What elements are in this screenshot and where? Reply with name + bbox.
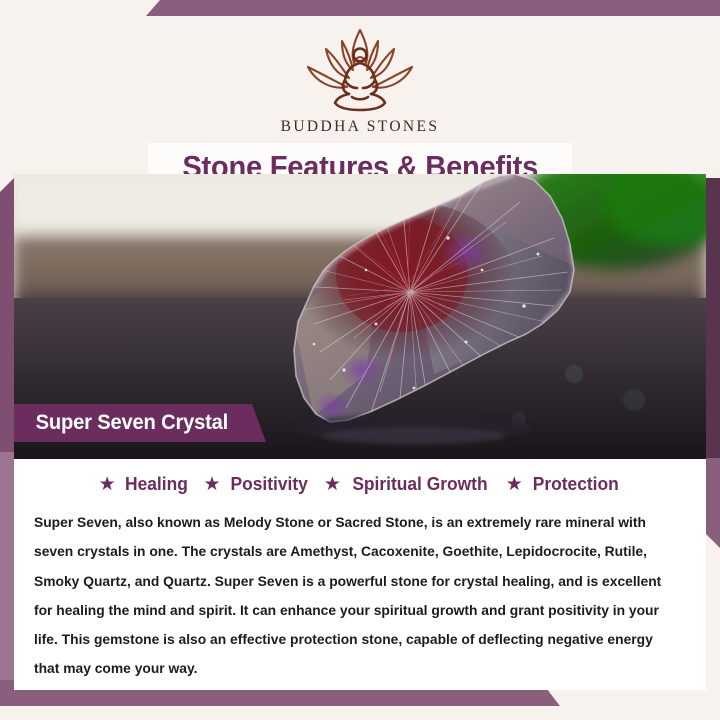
benefit-item-positivity: ★ Positivity xyxy=(204,473,310,495)
brand-logo: BUDDHA STONES xyxy=(0,24,720,136)
benefit-item-spiritual-growth: ★ Spiritual Growth xyxy=(324,473,492,495)
benefit-label: Protection xyxy=(533,473,619,495)
hero-caption-badge: Super Seven Crystal xyxy=(14,404,270,442)
description-paragraph: Super Seven, also known as Melody Stone … xyxy=(34,509,670,685)
brand-name: BUDDHA STONES xyxy=(0,118,720,136)
star-icon: ★ xyxy=(99,475,116,494)
benefit-item-protection: ★ Protection xyxy=(506,473,622,495)
top-accent-bar xyxy=(0,0,720,16)
star-icon: ★ xyxy=(324,475,341,494)
benefit-label: Spiritual Growth xyxy=(352,473,487,495)
benefits-row: ★ Healing ★ Positivity ★ Spiritual Growt… xyxy=(14,459,706,495)
infographic-page: BUDDHA STONES Stone Features & Benefits xyxy=(0,0,720,720)
star-icon: ★ xyxy=(506,475,523,494)
lotus-meditation-icon xyxy=(285,24,435,116)
star-icon: ★ xyxy=(204,475,221,494)
content-panel: ★ Healing ★ Positivity ★ Spiritual Growt… xyxy=(14,459,706,690)
header: BUDDHA STONES Stone Features & Benefits xyxy=(0,16,720,178)
benefit-label: Healing xyxy=(125,473,188,495)
benefit-label: Positivity xyxy=(230,473,307,495)
benefit-item-healing: ★ Healing xyxy=(99,473,190,495)
hero-caption-text: Super Seven Crystal xyxy=(18,411,228,435)
